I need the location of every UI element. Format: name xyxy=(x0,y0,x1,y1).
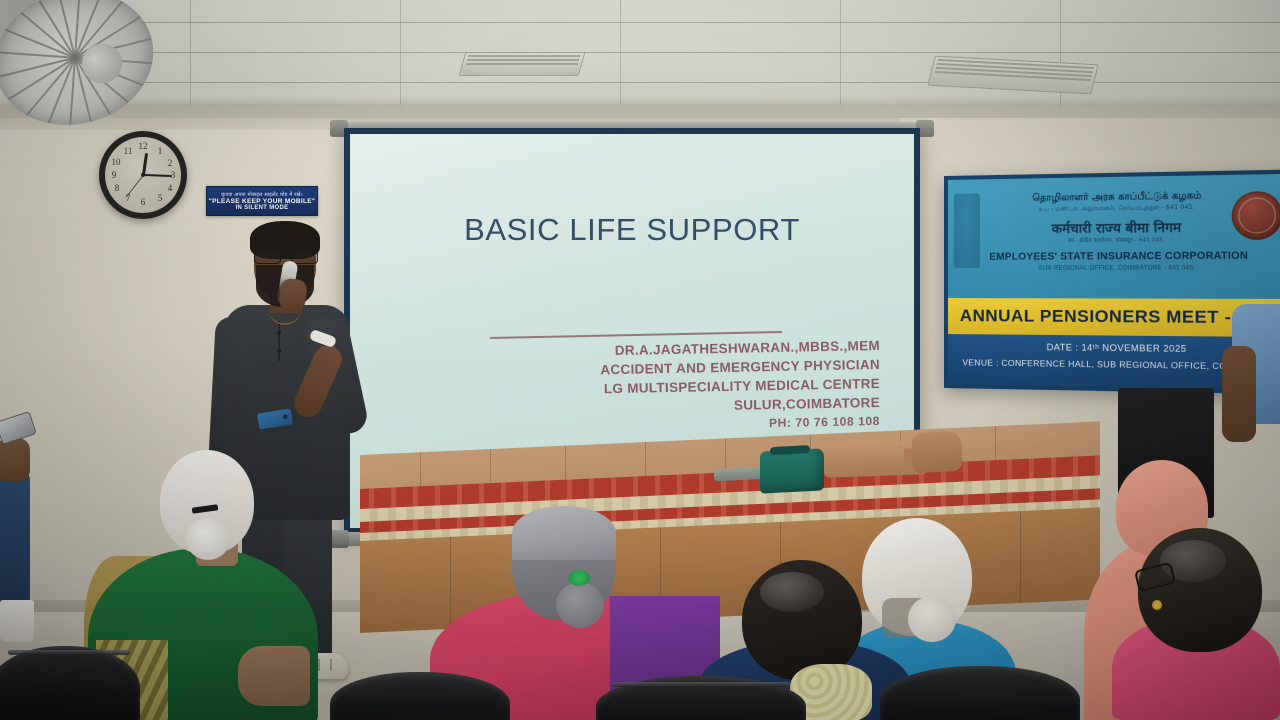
paper-cup xyxy=(0,600,34,642)
slide-title: BASIC LIFE SUPPORT xyxy=(350,212,914,248)
chair-rim xyxy=(8,650,130,655)
clock-numeral: 10 xyxy=(110,156,122,168)
clock-numeral: 12 xyxy=(137,140,149,152)
wall-fan-icon xyxy=(0,0,190,132)
clock-numeral: 2 xyxy=(164,157,176,169)
clock-numeral: 8 xyxy=(111,182,123,194)
clock-second-hand xyxy=(125,175,143,198)
chair-rim xyxy=(612,682,790,687)
eyeglasses-icon xyxy=(254,249,316,262)
attendee-arm xyxy=(1222,346,1256,442)
earring-icon xyxy=(1152,600,1162,610)
attendee-sleeve xyxy=(0,470,30,610)
presentation-room-photo: 12 1 2 3 4 5 6 7 8 9 10 11 कृपया अपना मो… xyxy=(0,0,1280,720)
clock-numeral: 11 xyxy=(122,145,134,157)
attendee-hand xyxy=(0,438,30,482)
banner-english-line1: EMPLOYEES' STATE INSURANCE CORPORATION xyxy=(948,250,1280,263)
attendee-arm xyxy=(238,646,310,706)
clock-numeral: 6 xyxy=(137,196,149,208)
ac-vent-icon xyxy=(927,56,1098,95)
attendee-hair xyxy=(512,506,616,560)
presenter-shirt-placket xyxy=(278,321,280,361)
clock-minute-hand xyxy=(143,174,172,177)
silent-sign-line1: "PLEASE KEEP YOUR MOBILE" xyxy=(209,198,316,205)
silent-sign-line2: IN SILENT MODE xyxy=(236,205,289,211)
manikin-head xyxy=(911,431,963,474)
attendee-arm-with-phone xyxy=(0,410,46,610)
banner-english-line2: SUB-REGIONAL OFFICE, COIMBATORE - 641 04… xyxy=(948,265,1280,272)
attendee-hair-bun xyxy=(556,582,604,628)
banner-hindi-line2: उप - क्षेत्रीय कार्यालय, कोयंबटूर - 641 … xyxy=(948,234,1280,245)
clock-numeral: 5 xyxy=(154,192,166,204)
cpr-manikin xyxy=(800,432,970,478)
clock-hour-hand xyxy=(142,153,148,175)
attendee-hair-bun xyxy=(908,596,956,642)
attendee-hair-bun xyxy=(186,518,230,560)
clock-numeral: 1 xyxy=(154,145,166,157)
hair-tie-icon xyxy=(568,570,590,586)
clock-numeral: 9 xyxy=(108,169,120,181)
banner-headline-strip: ANNUAL PENSIONERS MEET - 2025 xyxy=(948,298,1280,337)
silent-mode-sign: कृपया अपना मोबाइल साइलेंट मोड में रखें। … xyxy=(206,186,318,216)
banner-header-section: தொழிலாளர் அரசு காப்பீட்டுக் கழகம் உப - ம… xyxy=(948,174,1280,299)
wall-clock: 12 1 2 3 4 5 6 7 8 9 10 11 xyxy=(99,131,187,219)
slide-byline: DR.A.JAGATHESHWARAN.,MBBS.,MEM ACCIDENT … xyxy=(460,340,880,435)
stage-platform xyxy=(360,455,1100,630)
hair-highlight xyxy=(760,572,824,612)
ac-vent-icon xyxy=(459,52,586,76)
